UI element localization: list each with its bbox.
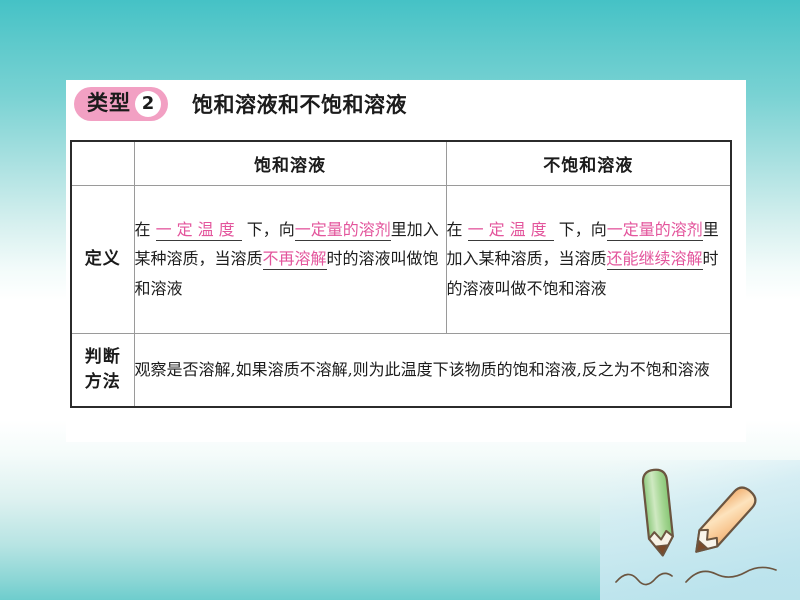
- table-row-definition: 定义 在 一定温度 下，向一定量的溶剂里加入某种溶质，当溶质不再溶解时的溶液叫做…: [71, 185, 731, 333]
- row-label-definition: 定义: [71, 185, 134, 333]
- orange-pencil-squiggle: [686, 567, 776, 582]
- orange-pencil-body: [687, 483, 759, 559]
- row-label-definition-line-1: 定义: [72, 247, 134, 272]
- orange-pencil-lead: [692, 541, 707, 556]
- page-title: 饱和溶液和不饱和溶液: [192, 89, 407, 119]
- cell-judgment-method: 观察是否溶解,如果溶质不溶解,则为此温度下该物质的饱和溶液,反之为不饱和溶液: [134, 333, 731, 407]
- orange-pencil-wood: [687, 526, 721, 560]
- green-pencil: [642, 469, 675, 557]
- column-header-saturated: 饱和溶液: [134, 141, 446, 185]
- type-badge-label: 类型: [87, 93, 131, 116]
- orange-pencil: [687, 483, 759, 559]
- slide-canvas: 类型 2 饱和溶液和不饱和溶液 饱和溶液 不饱和溶液 定义 在 一定温度 下，向…: [0, 0, 800, 600]
- highlighted-phrase: 还能继续溶解: [607, 249, 703, 270]
- highlighted-phrase: 不再溶解: [263, 249, 327, 270]
- section-heading: 类型 2 饱和溶液和不饱和溶液: [74, 84, 674, 124]
- table-corner-cell: [71, 141, 134, 185]
- green-pencil-body: [642, 469, 675, 557]
- row-label-judgment-line-1: 判断: [72, 345, 134, 370]
- table-row-judgment: 判断 方法 观察是否溶解,如果溶质不溶解,则为此温度下该物质的饱和溶液,反之为不…: [71, 333, 731, 407]
- row-label-judgment-line-2: 方法: [72, 370, 134, 395]
- green-pencil-lead: [656, 545, 668, 556]
- green-pencil-wood: [648, 530, 674, 556]
- green-pencil-squiggle: [616, 573, 672, 584]
- highlighted-phrase: 一定温度: [468, 220, 554, 241]
- comparison-table: 饱和溶液 不饱和溶液 定义 在 一定温度 下，向一定量的溶剂里加入某种溶质，当溶…: [70, 140, 732, 408]
- table-header-row: 饱和溶液 不饱和溶液: [71, 141, 731, 185]
- highlighted-phrase: 一定温度: [156, 220, 242, 241]
- type-badge: 类型 2: [74, 87, 168, 121]
- column-header-unsaturated: 不饱和溶液: [446, 141, 731, 185]
- two-pencils-illustration: [600, 460, 800, 600]
- type-badge-number: 2: [135, 91, 161, 117]
- highlighted-phrase: 一定量的溶剂: [295, 220, 391, 241]
- cell-definition-unsaturated: 在 一定温度 下，向一定量的溶剂里加入某种溶质，当溶质还能继续溶解时的溶液叫做不…: [446, 185, 731, 333]
- cell-definition-saturated: 在 一定温度 下，向一定量的溶剂里加入某种溶质，当溶质不再溶解时的溶液叫做饱和溶…: [134, 185, 446, 333]
- art-background-patch: [600, 460, 800, 600]
- highlighted-phrase: 一定量的溶剂: [607, 220, 703, 241]
- row-label-judgment: 判断 方法: [71, 333, 134, 407]
